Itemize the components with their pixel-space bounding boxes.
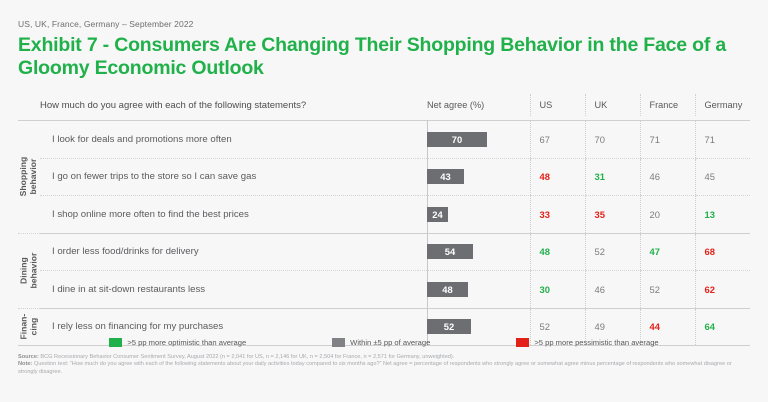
legend-item-pessimistic[interactable]: >5 pp more pessimistic than average <box>516 338 658 347</box>
legend: >5 pp more optimistic than average Withi… <box>18 338 750 347</box>
col-header-germany[interactable]: Germany <box>695 94 750 116</box>
footnotes: Source: BCG Recessionary Behavior Consum… <box>18 354 750 376</box>
net-agree-bar-cell: 54 <box>418 233 530 271</box>
table-row[interactable]: I shop online more often to find the bes… <box>18 196 750 234</box>
net-agree-bar: 54 <box>427 244 473 259</box>
source-note: Source: BCG Recessionary Behavior Consum… <box>18 354 750 361</box>
col-header-uk[interactable]: UK <box>585 94 640 116</box>
table-row[interactable]: Shopping behavior I look for deals and p… <box>18 121 750 159</box>
net-agree-bar: 48 <box>427 282 468 297</box>
group-col-header <box>18 94 40 116</box>
legend-item-optimistic[interactable]: >5 pp more optimistic than average <box>109 338 246 347</box>
value-germany: 71 <box>695 121 750 159</box>
value-germany: 45 <box>695 158 750 196</box>
value-germany: 62 <box>695 271 750 309</box>
legend-label: >5 pp more optimistic than average <box>127 338 246 347</box>
value-uk: 31 <box>585 158 640 196</box>
value-us: 48 <box>530 233 585 271</box>
page-title: Exhibit 7 - Consumers Are Changing Their… <box>18 34 750 80</box>
eyebrow-text: US, UK, France, Germany – September 2022 <box>18 0 750 30</box>
method-note: Note: Question text: “How much do you ag… <box>18 361 750 376</box>
question-header: How much do you agree with each of the f… <box>40 94 418 116</box>
legend-label: >5 pp more pessimistic than average <box>534 338 658 347</box>
table-header: How much do you agree with each of the f… <box>18 94 750 121</box>
legend-label: Within ±5 pp of average <box>350 338 430 347</box>
table-row[interactable]: Dining behavior I order less food/drinks… <box>18 233 750 271</box>
source-text: BCG Recessionary Behavior Consumer Senti… <box>39 354 455 360</box>
net-agree-bar-cell: 43 <box>418 158 530 196</box>
net-agree-bar: 70 <box>427 132 487 147</box>
statement-text: I shop online more often to find the bes… <box>40 196 418 234</box>
value-uk: 70 <box>585 121 640 159</box>
value-france: 46 <box>640 158 695 196</box>
group-label-text: Dining behavior <box>19 253 38 289</box>
legend-item-average[interactable]: Within ±5 pp of average <box>332 338 430 347</box>
value-us: 67 <box>530 121 585 159</box>
statement-text: I order less food/drinks for delivery <box>40 233 418 271</box>
value-germany: 13 <box>695 196 750 234</box>
exhibit-slide: US, UK, France, Germany – September 2022… <box>0 0 768 402</box>
value-us: 33 <box>530 196 585 234</box>
value-france: 20 <box>640 196 695 234</box>
legend-swatch-green <box>109 338 122 347</box>
legend-swatch-gray <box>332 338 345 347</box>
legend-swatch-red <box>516 338 529 347</box>
statement-text: I dine in at sit-down restaurants less <box>40 271 418 309</box>
value-france: 71 <box>640 121 695 159</box>
net-agree-bar-cell: 70 <box>418 121 530 159</box>
note-label: Note: <box>18 361 32 367</box>
statement-text: I look for deals and promotions more oft… <box>40 121 418 159</box>
value-germany: 68 <box>695 233 750 271</box>
value-us: 30 <box>530 271 585 309</box>
value-uk: 35 <box>585 196 640 234</box>
col-header-us[interactable]: US <box>530 94 585 116</box>
note-text: Question text: “How much do you agree wi… <box>18 361 732 374</box>
value-uk: 46 <box>585 271 640 309</box>
group-label-dining: Dining behavior <box>18 233 40 308</box>
net-agree-bar-cell: 24 <box>418 196 530 234</box>
value-uk: 52 <box>585 233 640 271</box>
value-france: 52 <box>640 271 695 309</box>
net-agree-bar: 43 <box>427 169 464 184</box>
table-row[interactable]: I dine in at sit-down restaurants less 4… <box>18 271 750 309</box>
net-agree-bar: 52 <box>427 319 471 334</box>
col-header-france[interactable]: France <box>640 94 695 116</box>
net-agree-bar-cell: 48 <box>418 271 530 309</box>
data-table: How much do you agree with each of the f… <box>18 94 750 346</box>
statement-text: I go on fewer trips to the store so I ca… <box>40 158 418 196</box>
source-label: Source: <box>18 354 39 360</box>
table-row[interactable]: I go on fewer trips to the store so I ca… <box>18 158 750 196</box>
group-label-text: Finan- cing <box>19 314 38 340</box>
net-agree-bar: 24 <box>427 207 448 222</box>
table-body: Shopping behavior I look for deals and p… <box>18 121 750 346</box>
group-label-text: Shopping behavior <box>19 157 38 197</box>
col-header-net-agree[interactable]: Net agree (%) <box>418 94 530 116</box>
value-us: 48 <box>530 158 585 196</box>
group-label-shopping: Shopping behavior <box>18 121 40 234</box>
value-france: 47 <box>640 233 695 271</box>
